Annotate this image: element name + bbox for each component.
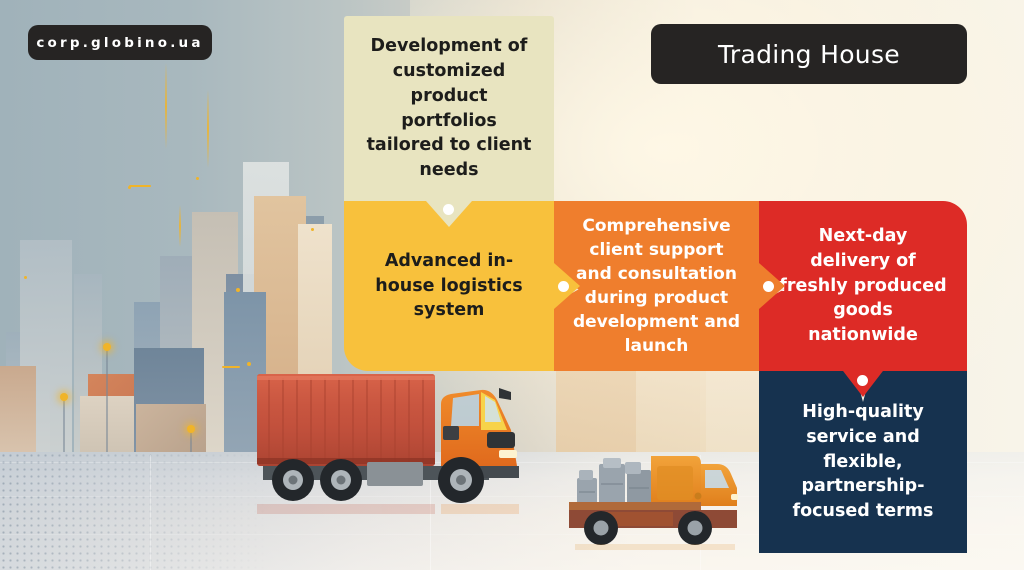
connector-dot-3 — [763, 281, 774, 292]
building-tan-left — [0, 366, 36, 452]
spark-4 — [247, 362, 251, 366]
feature-card-development-text: Development of customized product portfo… — [362, 34, 536, 183]
feature-card-support[interactable]: Comprehensive client support and consult… — [554, 201, 759, 371]
light-streak-1 — [165, 63, 167, 149]
small-delivery-truck-illustration — [555, 440, 745, 550]
page-title-badge: Trading House — [651, 24, 967, 84]
spark-3 — [24, 276, 27, 279]
light-streak-3 — [179, 205, 181, 247]
feature-card-support-text: Comprehensive client support and consult… — [572, 214, 741, 359]
page-title: Trading House — [718, 40, 900, 69]
spark-2 — [311, 228, 314, 231]
infographic-canvas: corp.globino.ua Trading House Developmen… — [0, 0, 1024, 570]
connector-dot-2 — [558, 281, 569, 292]
spark-5 — [196, 177, 199, 180]
feature-card-delivery-text: Next-day delivery of freshly produced go… — [777, 224, 949, 348]
building-tan-box — [136, 404, 206, 452]
light-streak-2 — [207, 90, 209, 168]
spark-1 — [236, 288, 240, 292]
feature-card-service-text: High-quality service and flexible, partn… — [777, 400, 949, 524]
feature-card-logistics-text: Advanced in-house logistics system — [362, 249, 536, 324]
ground-line-4 — [150, 455, 151, 570]
feature-card-delivery[interactable]: Next-day delivery of freshly produced go… — [759, 201, 967, 371]
ground-dot-texture — [0, 452, 270, 570]
site-logo-text: corp.globino.ua — [36, 35, 203, 51]
site-logo-badge[interactable]: corp.globino.ua — [28, 25, 212, 60]
spark-8 — [129, 185, 151, 187]
spark-7 — [222, 366, 240, 368]
connector-dot-1 — [443, 204, 454, 215]
connector-dot-4 — [857, 375, 868, 386]
feature-card-development[interactable]: Development of customized product portfo… — [344, 16, 554, 201]
big-container-truck-illustration — [255, 370, 555, 515]
